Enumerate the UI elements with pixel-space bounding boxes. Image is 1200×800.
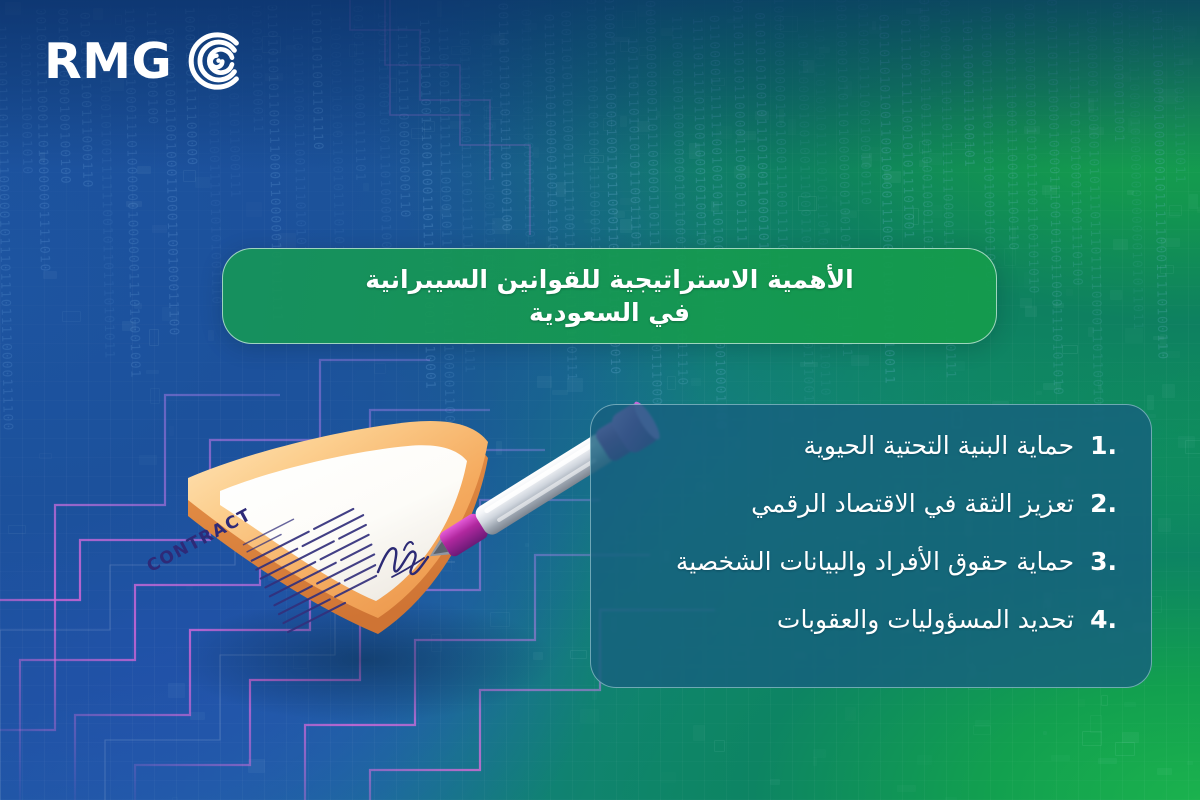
- list-item-label: تحديد المسؤوليات والعقوبات: [777, 605, 1074, 635]
- list-item-label: حماية البنية التحتية الحيوية: [804, 431, 1075, 461]
- list-item-label: حماية حقوق الأفراد والبيانات الشخصية: [676, 547, 1074, 577]
- list-item-number: 3.: [1090, 547, 1117, 576]
- list-item[interactable]: 2. تعزيز الثقة في الاقتصاد الرقمي: [619, 489, 1117, 545]
- brand-name: RMG: [44, 37, 172, 86]
- list-item[interactable]: 3. حماية حقوق الأفراد والبيانات الشخصية: [619, 547, 1117, 603]
- list-item[interactable]: 1. حماية البنية التحتية الحيوية: [619, 431, 1117, 487]
- title-line-1: الأهمية الاستراتيجية للقوانين السيبرانية: [365, 263, 853, 296]
- points-panel: 1. حماية البنية التحتية الحيوية 2. تعزيز…: [590, 404, 1152, 688]
- infographic-canvas: 1111010111011011100000101110111011110000…: [0, 0, 1200, 800]
- rmg-spiral-logo-icon: [186, 30, 248, 92]
- title-banner: الأهمية الاستراتيجية للقوانين السيبرانية…: [222, 248, 997, 344]
- list-item-number: 1.: [1090, 431, 1117, 460]
- list-item-number: 4.: [1090, 605, 1117, 634]
- list-item-number: 2.: [1090, 489, 1117, 518]
- brand-logo[interactable]: RMG: [44, 30, 248, 92]
- title-line-2: في السعودية: [365, 296, 853, 329]
- page-title: الأهمية الاستراتيجية للقوانين السيبرانية…: [365, 263, 853, 329]
- list-item-label: تعزيز الثقة في الاقتصاد الرقمي: [751, 489, 1074, 519]
- list-item[interactable]: 4. تحديد المسؤوليات والعقوبات: [619, 605, 1117, 661]
